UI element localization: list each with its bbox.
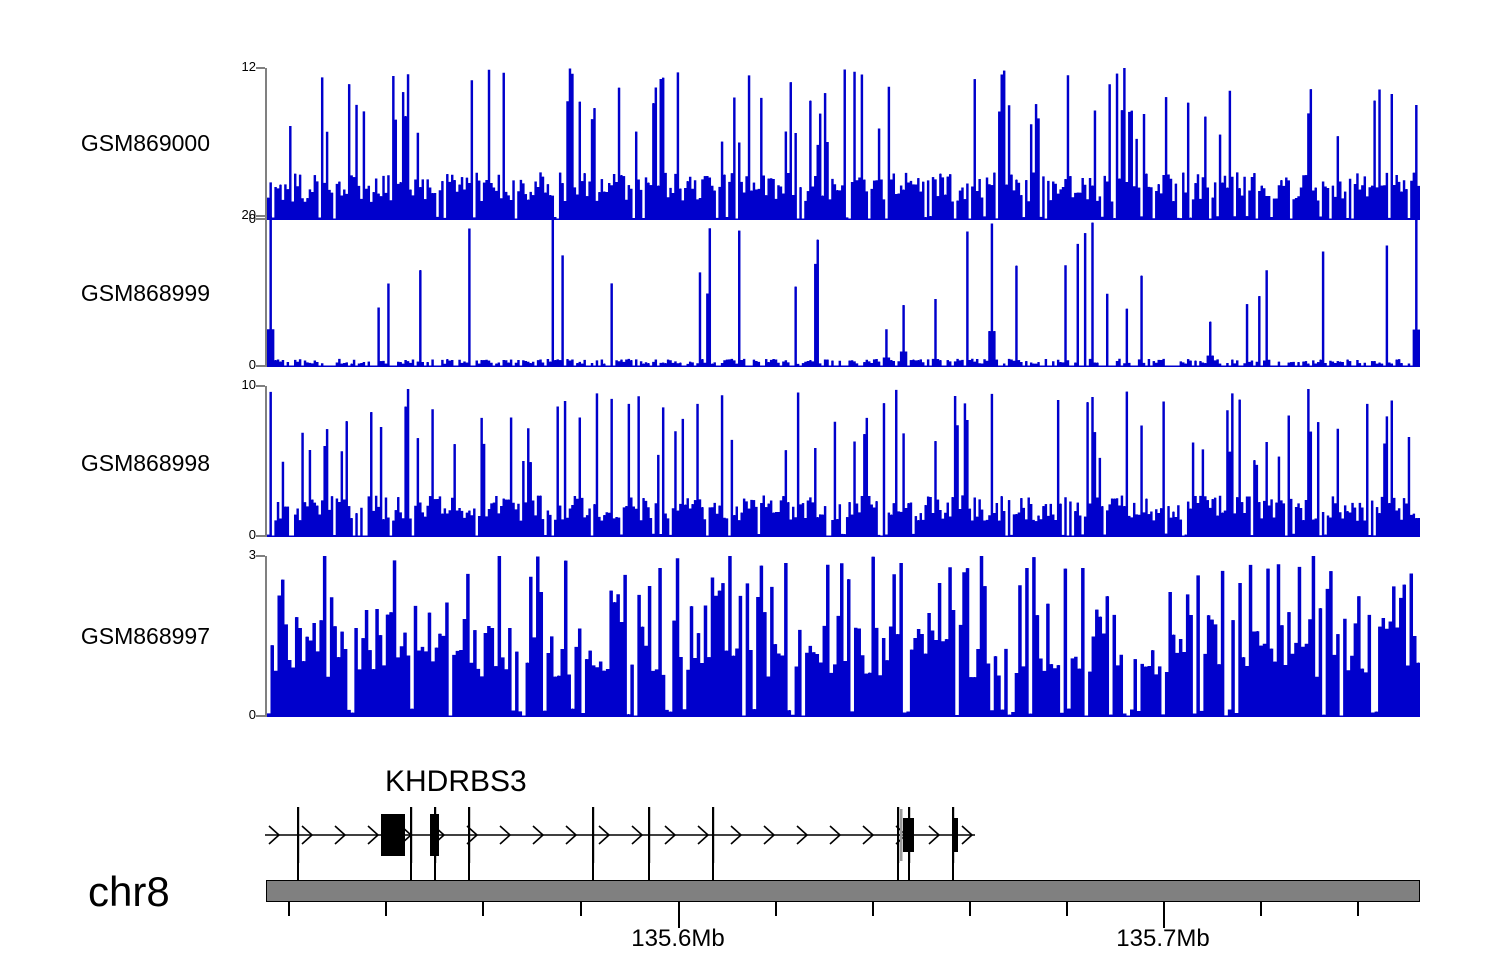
ruler-minor-tick	[872, 902, 874, 916]
ruler-minor-tick	[1260, 902, 1262, 916]
y-axis-tick-min	[256, 715, 265, 717]
ruler-minor-tick	[288, 902, 290, 916]
coverage-plot-area	[267, 68, 1420, 220]
y-axis-tick-min	[256, 365, 265, 367]
coverage-track: GSM869000 12 0	[0, 30, 1500, 200]
coverage-signal	[267, 556, 1420, 717]
ruler-minor-tick	[969, 902, 971, 916]
coverage-track: GSM868997 3 0	[0, 540, 1500, 720]
coverage-signal	[267, 216, 1420, 367]
ruler-minor-tick	[775, 902, 777, 916]
coverage-plot-area	[267, 216, 1420, 367]
coverage-signal	[267, 68, 1420, 220]
ruler-minor-tick	[1357, 902, 1359, 916]
y-axis-tick-max	[256, 385, 265, 387]
axis-min-label: 0	[222, 708, 256, 721]
ruler-minor-tick	[580, 902, 582, 916]
gene-boundary-tick	[712, 850, 714, 880]
gene-boundary-tick	[952, 850, 954, 880]
gene-boundary-tick	[908, 850, 910, 880]
track-label: GSM869000	[60, 130, 210, 157]
axis-max-label: 12	[222, 60, 256, 73]
y-axis-tick-max	[256, 555, 265, 557]
track-label: GSM868998	[60, 450, 210, 477]
gene-boundary-tick	[297, 850, 299, 880]
coverage-plot-area	[267, 386, 1420, 537]
coverage-track: GSM868999 20 0	[0, 200, 1500, 370]
genome-browser-figure: GSM869000 12 0 GSM868999 20 0 GSM868998 …	[0, 0, 1500, 980]
track-label: GSM868997	[60, 623, 210, 650]
ruler-tick-label: 135.6Mb	[631, 925, 724, 953]
y-axis-tick-max	[256, 67, 265, 69]
gene-boundary-tick	[648, 850, 650, 880]
y-axis-tick-max	[256, 215, 265, 217]
ruler-minor-tick	[1066, 902, 1068, 916]
coverage-signal	[267, 386, 1420, 537]
ideogram-bar	[266, 880, 1420, 902]
gene-boundary-tick	[592, 850, 594, 880]
ruler-tick-label: 135.7Mb	[1116, 925, 1209, 953]
y-axis-tick-min	[256, 535, 265, 537]
axis-max-label: 10	[222, 378, 256, 391]
gene-boundary-tick	[468, 850, 470, 880]
axis-max-label: 20	[222, 208, 256, 221]
gene-model	[260, 795, 980, 865]
axis-max-label: 3	[222, 548, 256, 561]
gene-model-svg	[260, 795, 980, 865]
gene-boundary-tick	[434, 850, 436, 880]
coverage-track: GSM868998 10 0	[0, 370, 1500, 540]
gene-label: KHDRBS3	[385, 765, 527, 799]
gene-boundary-tick	[410, 850, 412, 880]
ruler-minor-tick	[385, 902, 387, 916]
gene-boundary-tick	[897, 850, 899, 880]
track-label: GSM868999	[60, 280, 210, 307]
coverage-plot-area	[267, 556, 1420, 717]
chromosome-label: chr8	[88, 868, 170, 916]
ruler-minor-tick	[482, 902, 484, 916]
